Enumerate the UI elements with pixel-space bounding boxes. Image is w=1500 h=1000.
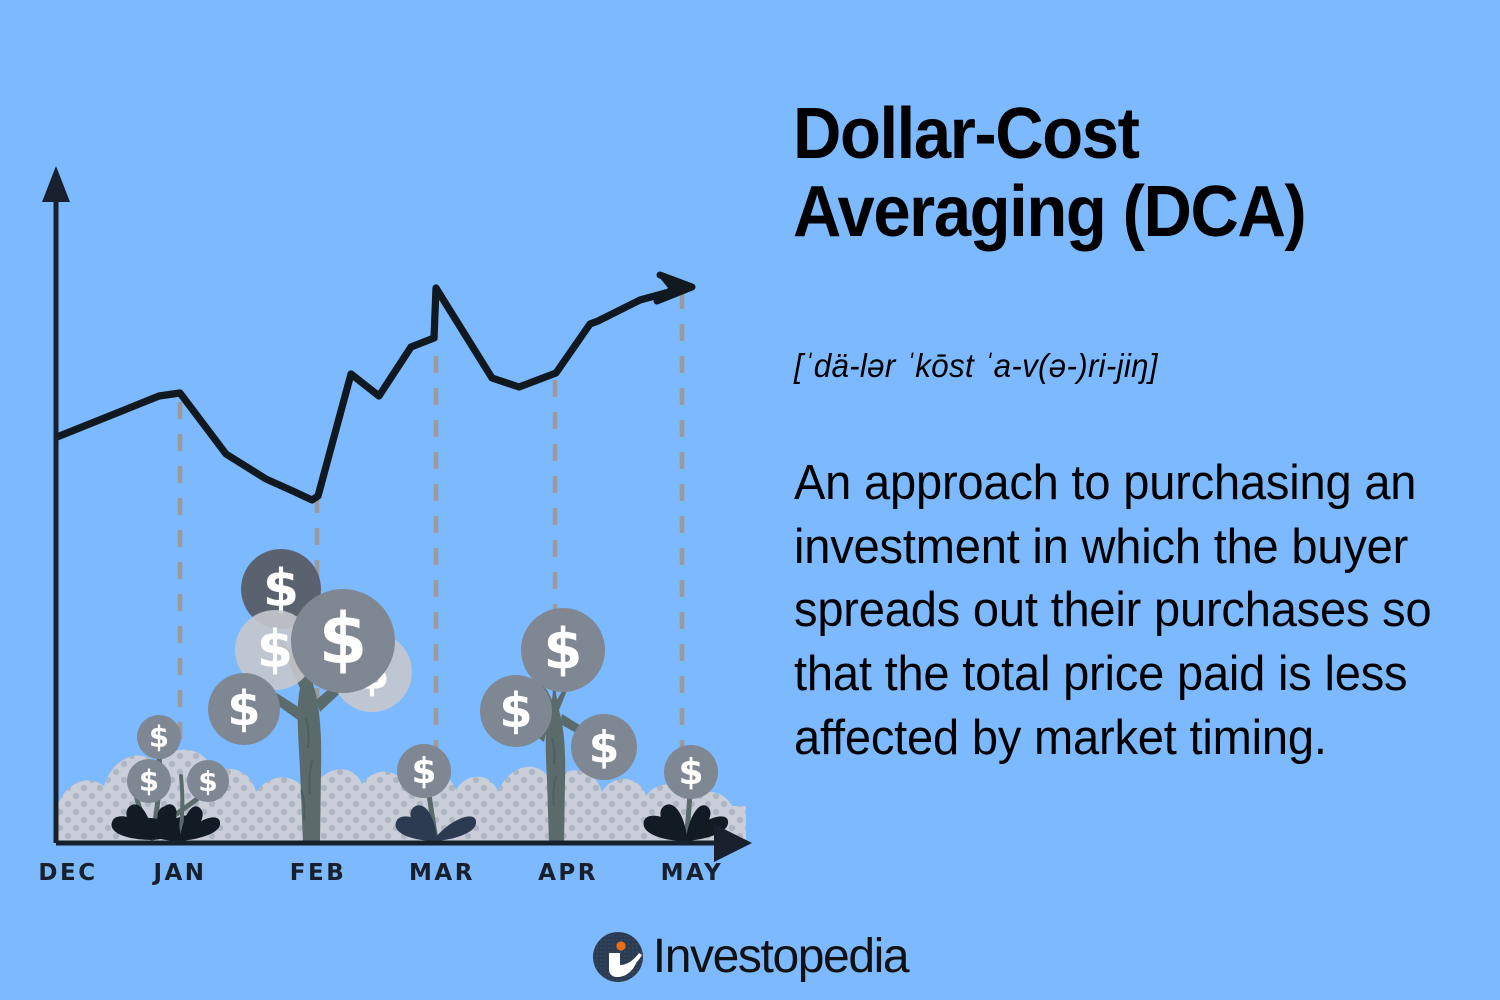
month-label-may: MAY xyxy=(661,860,724,886)
coin-symbol: $ xyxy=(227,681,260,737)
y-axis-arrowhead xyxy=(42,166,70,202)
logo-orange-dot xyxy=(616,941,625,950)
coin-symbol: $ xyxy=(257,620,293,680)
coin-symbol: $ xyxy=(319,598,368,680)
definition-panel: Dollar-Cost Averaging (DCA) [ˈdä-lər ˈkō… xyxy=(793,0,1473,1000)
coin-symbol: $ xyxy=(544,617,583,682)
month-label-dec: DEC xyxy=(38,860,97,886)
coin-symbol: $ xyxy=(263,559,299,619)
coin-symbol: $ xyxy=(149,720,169,754)
month-label-mar: MAR xyxy=(409,860,475,886)
coin-symbol: $ xyxy=(411,751,436,792)
coin-symbol: $ xyxy=(678,752,703,793)
brand-name: Investopedia xyxy=(653,933,908,981)
month-label-jan: JAN xyxy=(153,860,206,886)
pronunciation-text: [ˈdä-lər ˈkōst ˈa-v(ə-)ri-jiŋ] xyxy=(794,347,1440,385)
page-title: Dollar-Cost Averaging (DCA) xyxy=(793,96,1425,252)
month-label-apr: APR xyxy=(538,860,598,886)
chart-illustration-panel: $ $ $ $ $ $ xyxy=(0,0,780,1000)
coin-symbol: $ xyxy=(139,764,159,798)
infographic-root: $ $ $ $ $ $ xyxy=(0,0,1500,1000)
month-axis-labels: DEC JAN FEB MAR APR MAY xyxy=(0,860,780,904)
price-line xyxy=(57,288,684,500)
brand-footer: Investopedia xyxy=(0,920,1500,994)
month-label-feb: FEB xyxy=(290,860,346,886)
coin-symbol: $ xyxy=(499,683,532,739)
coin-symbol: $ xyxy=(589,722,620,773)
coin-symbol: $ xyxy=(198,765,217,798)
definition-text: An approach to purchasing an investment … xyxy=(794,452,1456,770)
investopedia-logo-icon xyxy=(592,931,644,983)
dca-chart: $ $ $ $ $ $ xyxy=(0,0,780,930)
